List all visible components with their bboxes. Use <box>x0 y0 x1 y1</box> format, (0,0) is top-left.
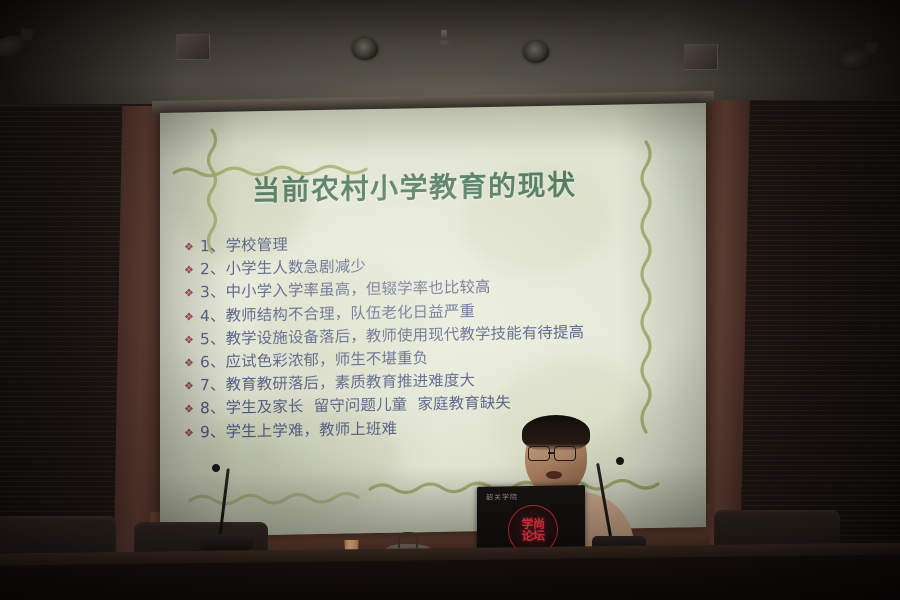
slide-bullet-list: ❖ 1、 学校管理 ❖ 2、 小学生人数急剧减少 ❖ 3、 中小学入学率虽高，但… <box>184 225 704 443</box>
diamond-bullet-icon: ❖ <box>184 333 200 346</box>
ceiling-downlight-right <box>523 41 549 63</box>
slatted-wall-left <box>0 106 130 558</box>
list-item-number: 5、 <box>200 327 226 349</box>
laptop-brand-text: 韶关学院 <box>486 492 518 503</box>
list-item-label: 学校管理 <box>226 233 288 256</box>
list-item-label: 教师结构不合理，队伍老化日益严重 <box>226 299 475 326</box>
list-item-label: 教育教研落后，素质教育推进难度大 <box>226 368 475 395</box>
slide-title: 当前农村小学教育的现状 <box>252 162 672 210</box>
list-item-label: 中小学入学率虽高，但辍学率也比较高 <box>226 275 491 302</box>
laptop-logo-line2: 论坛 <box>521 530 544 543</box>
glasses-icon <box>528 446 550 461</box>
ceiling-downlight-left <box>352 38 378 60</box>
diamond-bullet-icon: ❖ <box>184 287 200 300</box>
lecture-hall-photo: 当前农村小学教育的现状 ❖ 1、 学校管理 ❖ 2、 小学生人数急剧减少 ❖ 3… <box>0 0 900 600</box>
diamond-bullet-icon: ❖ <box>184 403 200 416</box>
diamond-bullet-icon: ❖ <box>184 379 200 392</box>
microphone-base <box>199 534 253 550</box>
diamond-bullet-icon: ❖ <box>184 310 200 323</box>
list-item-number: 9、 <box>200 419 226 441</box>
list-item-number: 7、 <box>200 373 226 395</box>
ceiling-vent-right <box>684 44 718 70</box>
bag-handle <box>398 532 418 548</box>
list-item-number: 8、 <box>200 396 226 418</box>
list-item-label: 学生上学难，教师上班难 <box>226 416 398 441</box>
list-item-label: 小学生人数急剧减少 <box>226 254 366 279</box>
microphone-head <box>212 464 220 472</box>
diamond-bullet-icon: ❖ <box>184 263 200 276</box>
list-item-label: 应试色彩浓郁，师生不堪重负 <box>226 346 429 372</box>
diamond-bullet-icon: ❖ <box>184 426 200 439</box>
list-item-number: 3、 <box>200 280 226 302</box>
glasses-bridge <box>548 452 555 454</box>
ceiling-shadow-left <box>0 0 180 112</box>
ceiling-sprinkler <box>441 30 447 42</box>
list-item-number: 1、 <box>200 234 226 256</box>
ceiling-vent-left <box>176 34 210 60</box>
diamond-bullet-icon: ❖ <box>184 240 200 253</box>
diamond-bullet-icon: ❖ <box>184 356 200 369</box>
list-item-number: 4、 <box>200 303 226 325</box>
list-item-number: 2、 <box>200 257 226 279</box>
glasses-icon <box>554 446 576 461</box>
list-item-number: 6、 <box>200 350 226 372</box>
speaker-mouth <box>546 471 562 479</box>
slatted-wall-right <box>742 100 900 570</box>
microphone-head <box>616 457 624 465</box>
